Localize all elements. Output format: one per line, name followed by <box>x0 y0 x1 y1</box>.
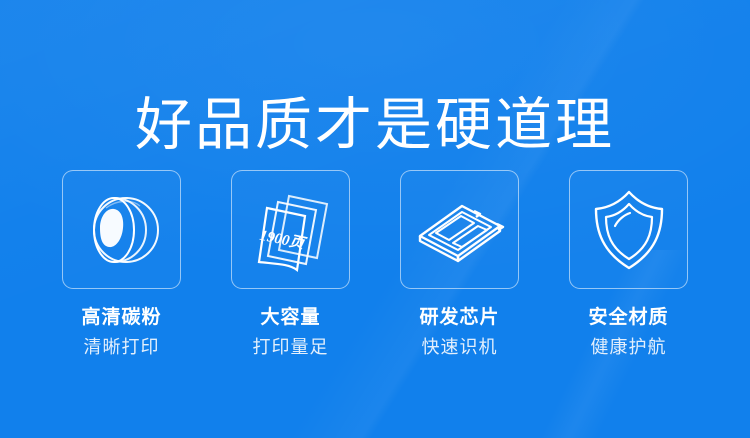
promo-banner: 好品质才是硬道理 <box>0 0 750 438</box>
paper-stack-icon: 1900页 <box>245 184 337 276</box>
feature-subtitle: 快速识机 <box>422 336 498 359</box>
feature-subtitle: 健康护航 <box>591 336 667 359</box>
icon-card-capacity: 1900页 <box>231 170 350 289</box>
feature-title: 安全材质 <box>588 306 668 330</box>
feature-item-capacity: 1900页 大容量 打印量足 <box>230 170 351 359</box>
feature-title: 研发芯片 <box>419 306 499 330</box>
feature-title: 高清碳粉 <box>81 306 161 330</box>
shield-icon <box>583 184 675 276</box>
chip-icon <box>412 182 508 278</box>
feature-item-toner: 高清碳粉 清晰打印 <box>61 170 182 359</box>
icon-card-toner <box>62 170 181 289</box>
feature-list: 高清碳粉 清晰打印 1900页 <box>0 170 750 359</box>
icon-card-chip <box>400 170 519 289</box>
feature-item-chip: 研发芯片 快速识机 <box>399 170 520 359</box>
feature-subtitle: 清晰打印 <box>84 336 160 359</box>
feature-subtitle: 打印量足 <box>253 336 329 359</box>
feature-item-safety: 安全材质 健康护航 <box>568 170 689 359</box>
feature-title: 大容量 <box>260 306 320 330</box>
icon-card-safety <box>569 170 688 289</box>
toner-sphere-icon <box>76 184 168 276</box>
page-title: 好品质才是硬道理 <box>0 90 750 160</box>
